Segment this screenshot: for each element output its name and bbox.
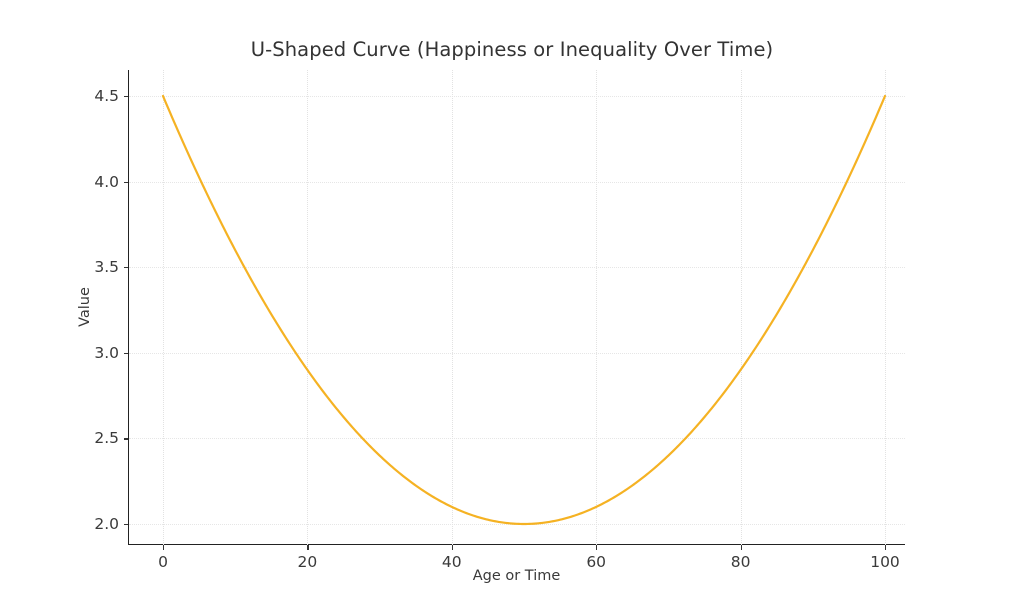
x-tick-mark <box>307 545 308 550</box>
chart-figure: U-Shaped Curve (Happiness or Inequality … <box>0 0 1024 614</box>
y-tick-label: 3.5 <box>94 258 119 276</box>
y-tick-label: 2.5 <box>94 429 119 447</box>
y-tick-label: 2.0 <box>94 515 119 533</box>
plot-area: 2.02.53.03.54.04.5 020406080100 <box>128 70 905 545</box>
x-tick-mark <box>163 545 164 550</box>
curve-plot <box>128 70 905 545</box>
y-tick-label: 3.0 <box>94 344 119 362</box>
u-shaped-curve-line <box>163 96 885 524</box>
x-axis-label: Age or Time <box>128 568 905 584</box>
y-axis-label: Value <box>77 287 93 327</box>
x-tick-mark <box>741 545 742 550</box>
x-tick-mark <box>452 545 453 550</box>
chart-title: U-Shaped Curve (Happiness or Inequality … <box>0 38 1024 61</box>
y-tick-label: 4.5 <box>94 87 119 105</box>
x-tick-mark <box>596 545 597 550</box>
y-tick-label: 4.0 <box>94 173 119 191</box>
x-tick-mark <box>885 545 886 550</box>
